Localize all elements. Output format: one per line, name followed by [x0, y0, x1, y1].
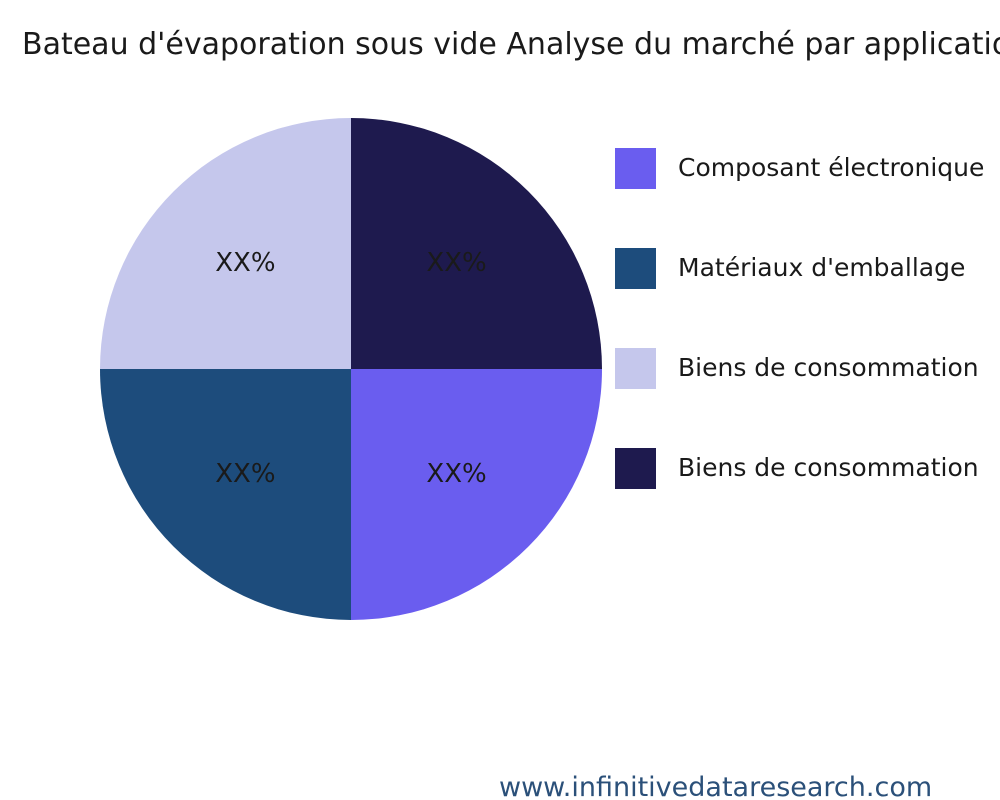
pie-slice-label: XX% [426, 459, 486, 489]
legend-item[interactable]: Biens de consommation [615, 418, 1000, 518]
pie-chart: XX% XX% XX% XX% [100, 118, 602, 620]
pie-slice[interactable] [351, 369, 602, 620]
legend-swatch-icon [615, 148, 656, 189]
page-title: Bateau d'évaporation sous vide Analyse d… [22, 27, 1000, 63]
legend-swatch-icon [615, 448, 656, 489]
footer-website-url[interactable]: www.infinitivedataresearch.com [499, 772, 932, 800]
pie-slice-label: XX% [426, 248, 486, 278]
chart-canvas: Bateau d'évaporation sous vide Analyse d… [0, 0, 1000, 800]
pie-slice-label: XX% [215, 248, 275, 278]
legend-swatch-icon [615, 248, 656, 289]
legend-swatch-icon [615, 348, 656, 389]
legend-item-label: Composant électronique [678, 153, 984, 183]
legend-item[interactable]: Biens de consommation [615, 318, 1000, 418]
legend-item[interactable]: Composant électronique [615, 118, 1000, 218]
pie-slice[interactable] [351, 118, 602, 369]
pie-slice[interactable] [100, 369, 351, 620]
legend-item-label: Matériaux d'emballage [678, 253, 965, 283]
legend-item-label: Biens de consommation [678, 353, 979, 383]
legend-item-label: Biens de consommation [678, 453, 979, 483]
pie-chart-svg: XX% XX% XX% XX% [100, 118, 602, 620]
legend-item[interactable]: Matériaux d'emballage [615, 218, 1000, 318]
pie-slice[interactable] [100, 118, 351, 369]
chart-legend: Composant électronique Matériaux d'embal… [615, 118, 1000, 518]
pie-slice-label: XX% [215, 459, 275, 489]
